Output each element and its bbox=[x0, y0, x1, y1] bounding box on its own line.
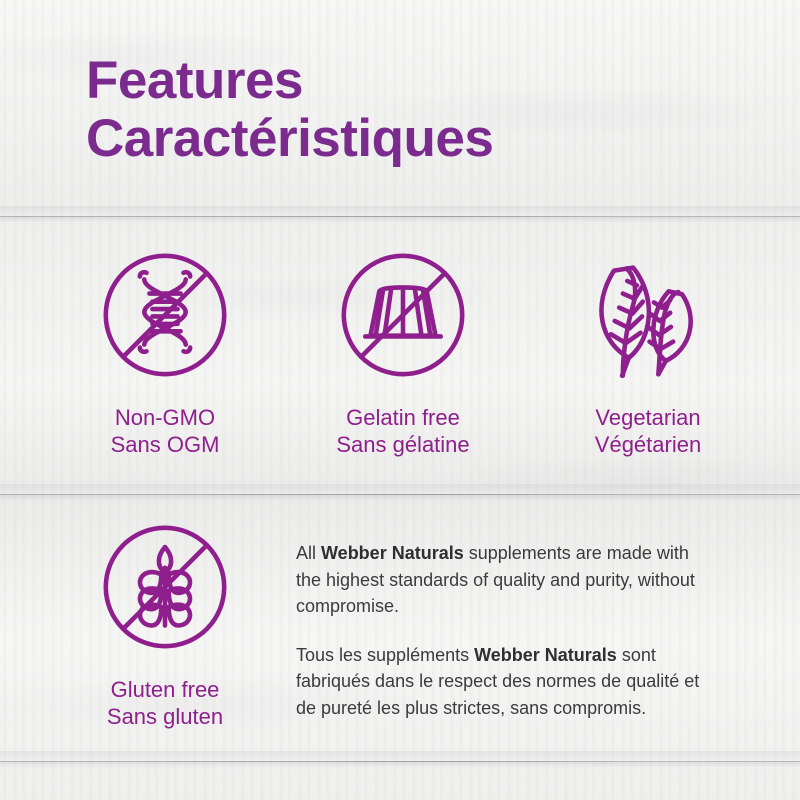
feature-gluten-free: Gluten free Sans gluten bbox=[45, 512, 285, 730]
feature-label-en: Vegetarian bbox=[523, 404, 773, 431]
feature-label-en: Gelatin free bbox=[283, 404, 523, 431]
body-copy: All Webber Naturals supplements are made… bbox=[296, 540, 716, 721]
plank-seam-1 bbox=[0, 206, 800, 223]
feature-label-en: Non-GMO bbox=[45, 404, 285, 431]
wheat-no-symbol-icon bbox=[45, 512, 285, 662]
page-title-fr: Caractéristiques bbox=[86, 110, 493, 168]
feature-label-fr: Végétarien bbox=[523, 431, 773, 458]
paragraph-fr-before: Tous les suppléments bbox=[296, 645, 474, 665]
features-infographic: Features Caractéristiques bbox=[0, 0, 800, 800]
feature-non-gmo: Non-GMO Sans OGM bbox=[45, 240, 285, 458]
paragraph-fr: Tous les suppléments Webber Naturals son… bbox=[296, 642, 716, 722]
paragraph-en: All Webber Naturals supplements are made… bbox=[296, 540, 716, 620]
brand-name-en: Webber Naturals bbox=[321, 543, 464, 563]
feature-label-fr: Sans gélatine bbox=[283, 431, 523, 458]
feature-label-fr: Sans gluten bbox=[45, 703, 285, 730]
feature-gelatin-free: Gelatin free Sans gélatine bbox=[283, 240, 523, 458]
feature-vegetarian: Vegetarian Végétarien bbox=[523, 240, 773, 458]
plank-seam-3 bbox=[0, 751, 800, 768]
jelly-mold-no-symbol-icon bbox=[283, 240, 523, 390]
plank-seam-2 bbox=[0, 484, 800, 501]
page-title: Features Caractéristiques bbox=[86, 52, 493, 168]
feature-label-fr: Sans OGM bbox=[45, 431, 285, 458]
brand-name-fr: Webber Naturals bbox=[474, 645, 617, 665]
leaves-icon bbox=[523, 240, 773, 390]
feature-label-en: Gluten free bbox=[45, 676, 285, 703]
page-title-en: Features bbox=[86, 52, 493, 110]
dna-no-symbol-icon bbox=[45, 240, 285, 390]
paragraph-en-before: All bbox=[296, 543, 321, 563]
